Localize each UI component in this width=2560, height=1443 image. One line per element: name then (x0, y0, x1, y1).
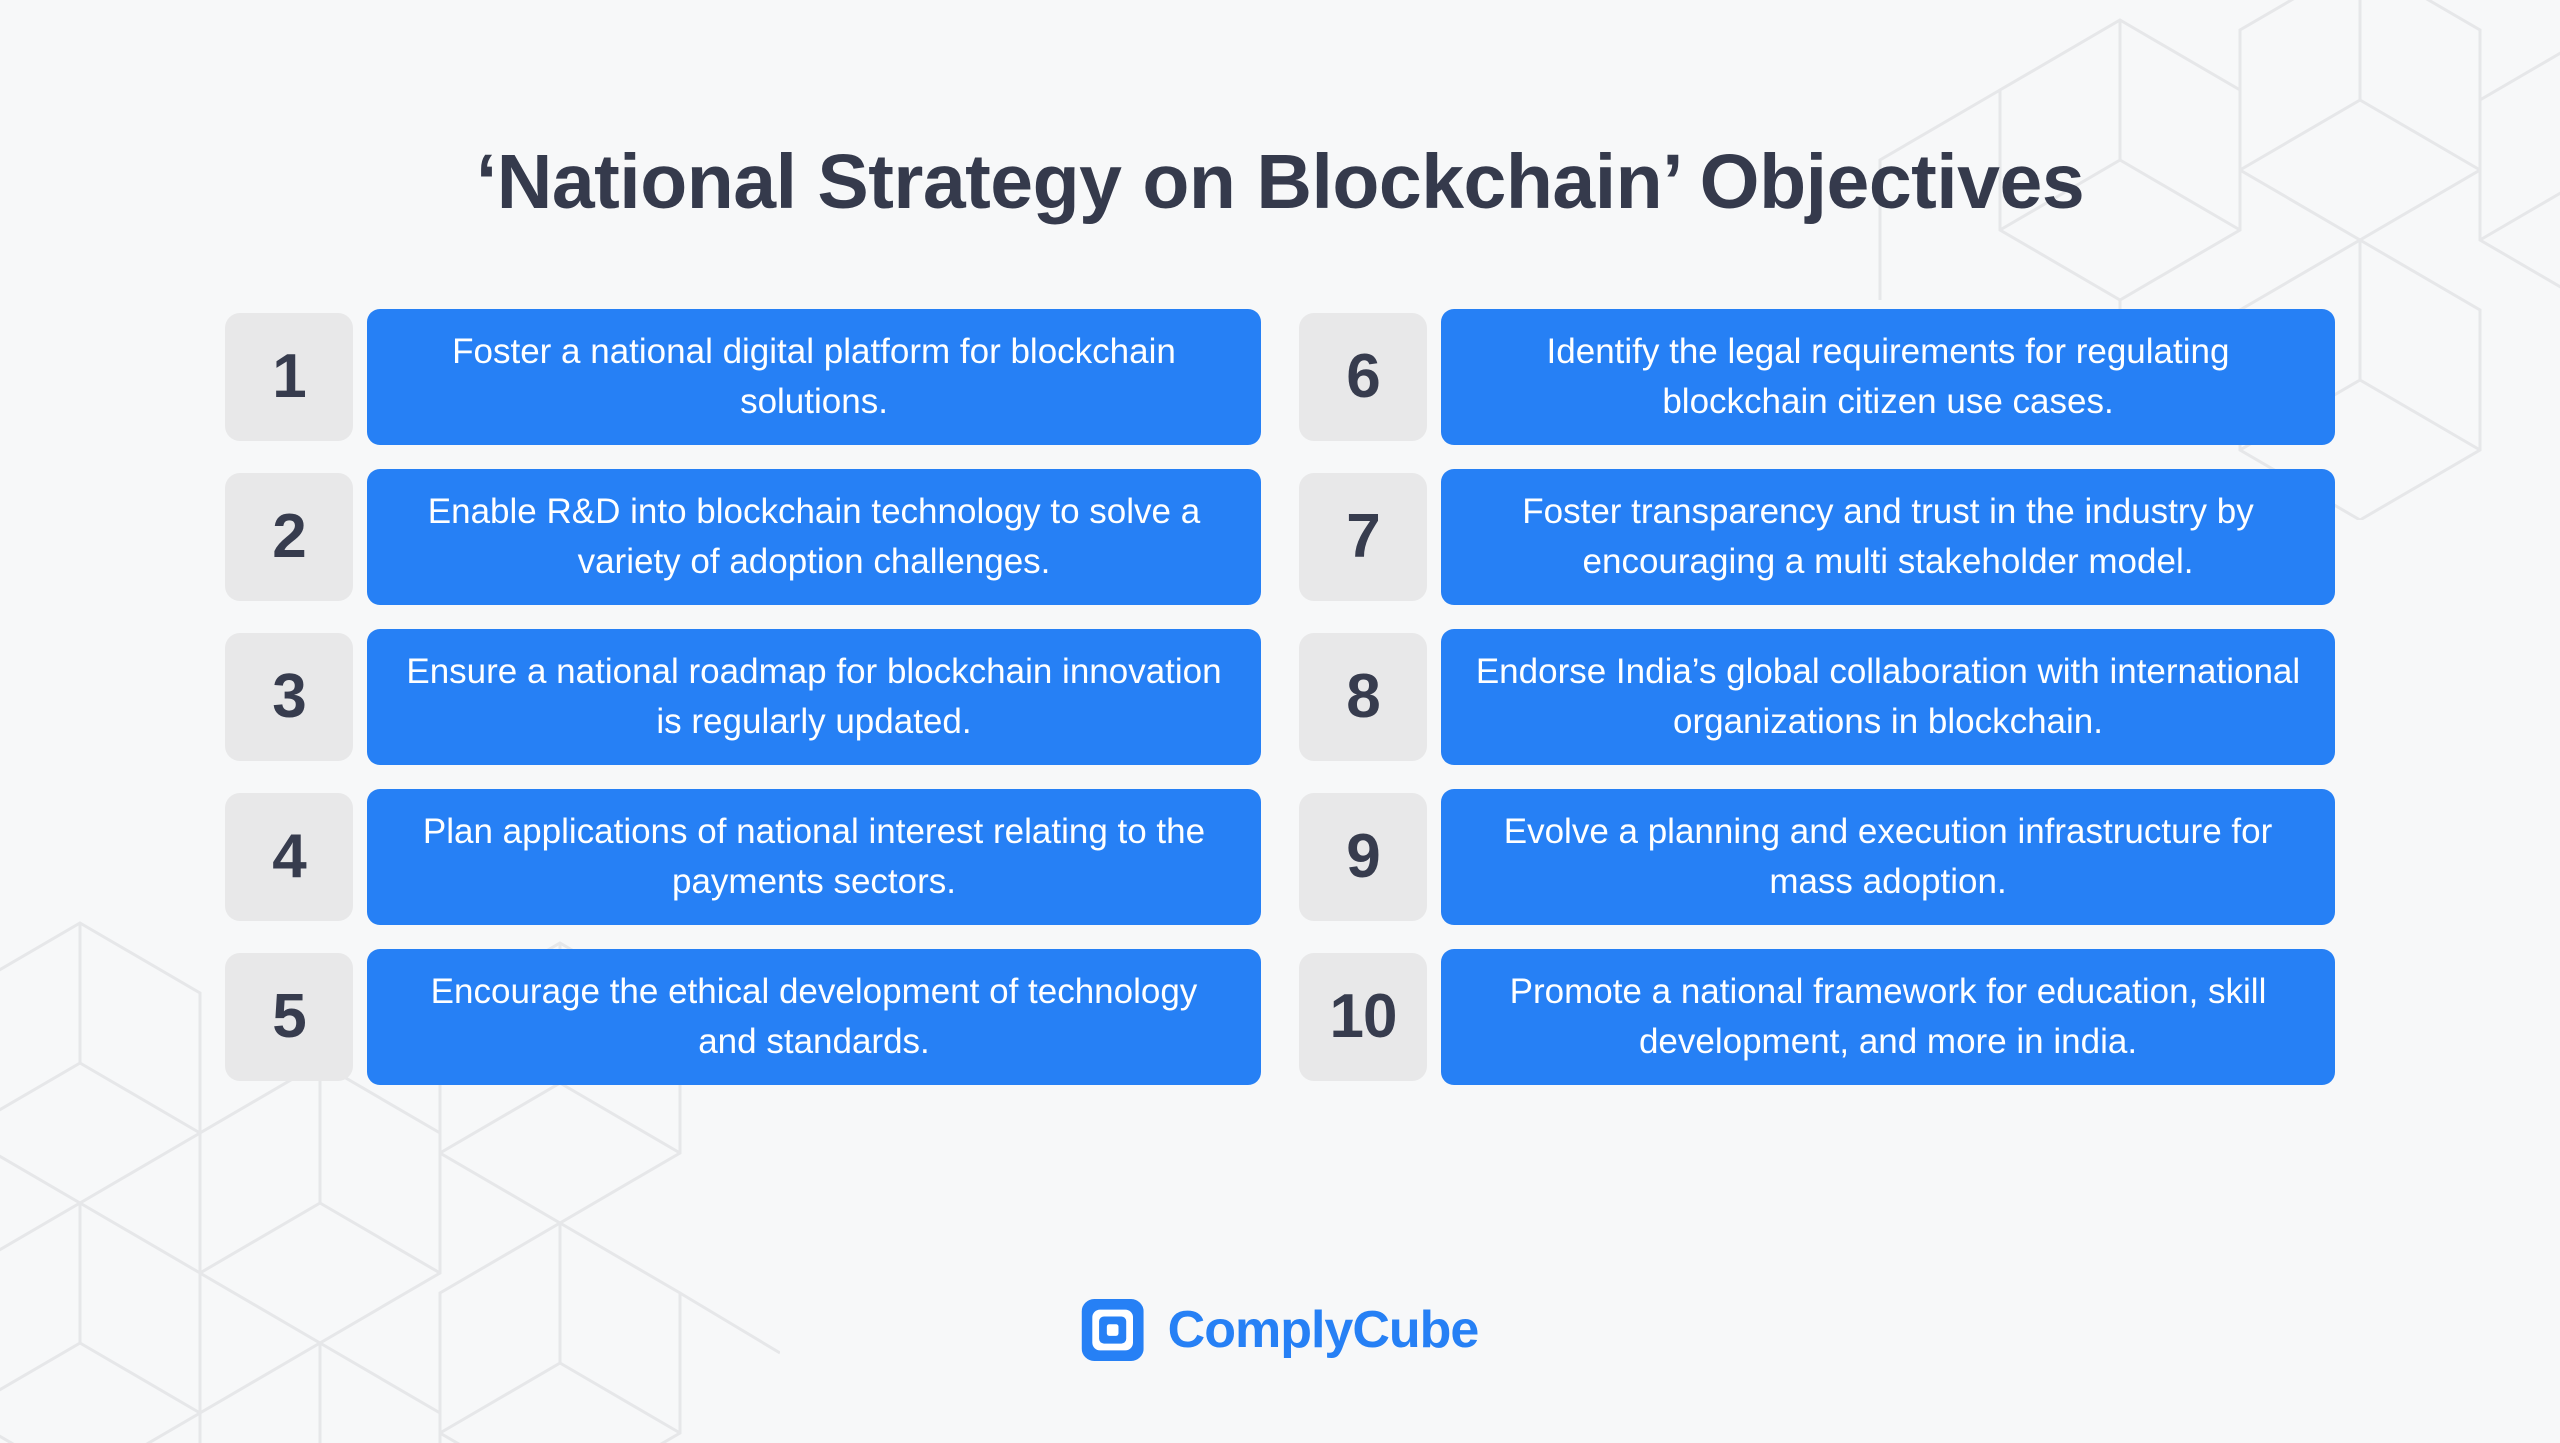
objective-text-card: Encourage the ethical development of tec… (367, 949, 1261, 1085)
objective-item: 8 Endorse India’s global collaboration w… (1299, 617, 2335, 777)
objective-item: 9 Evolve a planning and execution infras… (1299, 777, 2335, 937)
objective-item: 4 Plan applications of national interest… (225, 777, 1261, 937)
objective-item: 6 Identify the legal requirements for re… (1299, 297, 2335, 457)
objective-text-card: Enable R&D into blockchain technology to… (367, 469, 1261, 605)
objective-text-card: Plan applications of national interest r… (367, 789, 1261, 925)
objective-text-card: Promote a national framework for educati… (1441, 949, 2335, 1085)
objective-number-badge: 8 (1299, 633, 1427, 761)
objective-number-badge: 9 (1299, 793, 1427, 921)
objective-number-badge: 2 (225, 473, 353, 601)
objective-number-badge: 5 (225, 953, 353, 1081)
objective-text-card: Identify the legal requirements for regu… (1441, 309, 2335, 445)
objective-text-card: Endorse India’s global collaboration wit… (1441, 629, 2335, 765)
objective-number-badge: 7 (1299, 473, 1427, 601)
objectives-right-column: 6 Identify the legal requirements for re… (1299, 297, 2335, 1097)
objective-number-badge: 4 (225, 793, 353, 921)
objective-item: 3 Ensure a national roadmap for blockcha… (225, 617, 1261, 777)
objectives-left-column: 1 Foster a national digital platform for… (225, 297, 1261, 1097)
objective-item: 1 Foster a national digital platform for… (225, 297, 1261, 457)
objective-text-card: Foster a national digital platform for b… (367, 309, 1261, 445)
complycube-logo-icon (1082, 1299, 1144, 1361)
objective-number-badge: 1 (225, 313, 353, 441)
objective-text-card: Ensure a national roadmap for blockchain… (367, 629, 1261, 765)
objective-number-badge: 10 (1299, 953, 1427, 1081)
objectives-grid: 1 Foster a national digital platform for… (225, 297, 2335, 1097)
objective-number-badge: 6 (1299, 313, 1427, 441)
infographic-page: ‘National Strategy on Blockchain’ Object… (0, 0, 2560, 1443)
objective-text-card: Evolve a planning and execution infrastr… (1441, 789, 2335, 925)
objective-item: 10 Promote a national framework for educ… (1299, 937, 2335, 1097)
objective-item: 2 Enable R&D into blockchain technology … (225, 457, 1261, 617)
objective-item: 7 Foster transparency and trust in the i… (1299, 457, 2335, 617)
page-title: ‘National Strategy on Blockchain’ Object… (476, 140, 2084, 225)
brand-name: ComplyCube (1168, 1304, 1479, 1356)
objective-item: 5 Encourage the ethical development of t… (225, 937, 1261, 1097)
brand-footer: ComplyCube (1082, 1299, 1479, 1361)
objective-number-badge: 3 (225, 633, 353, 761)
objective-text-card: Foster transparency and trust in the ind… (1441, 469, 2335, 605)
